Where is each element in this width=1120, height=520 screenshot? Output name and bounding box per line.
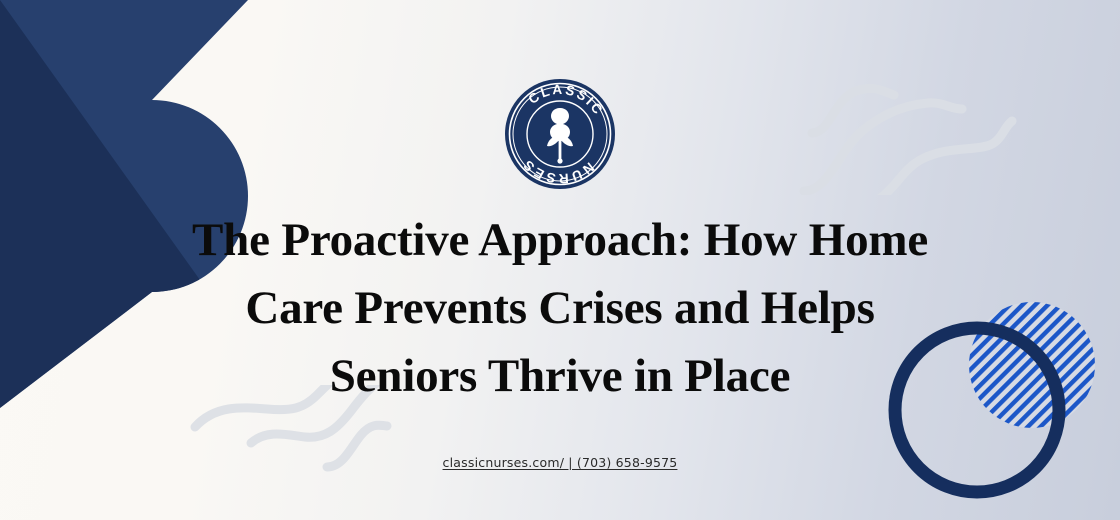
footer-contact: classicnurses.com/ | (703) 658-9575 [0,455,1120,470]
title-line-3: Seniors Thrive in Place [130,342,990,410]
title-line-2: Care Prevents Crises and Helps [130,274,990,342]
title-line-1: The Proactive Approach: How Home [130,206,990,274]
brand-logo: CLASSIC NURSES [504,78,616,190]
website-link[interactable]: classicnurses.com/ | (703) 658-9575 [443,455,678,470]
wavy-lines-top-right [798,55,1028,195]
page-title: The Proactive Approach: How Home Care Pr… [0,206,1120,410]
classic-nurses-logo-icon: CLASSIC NURSES [504,78,616,190]
blog-banner: CLASSIC NURSES The Proactive Approach: H… [0,0,1120,520]
